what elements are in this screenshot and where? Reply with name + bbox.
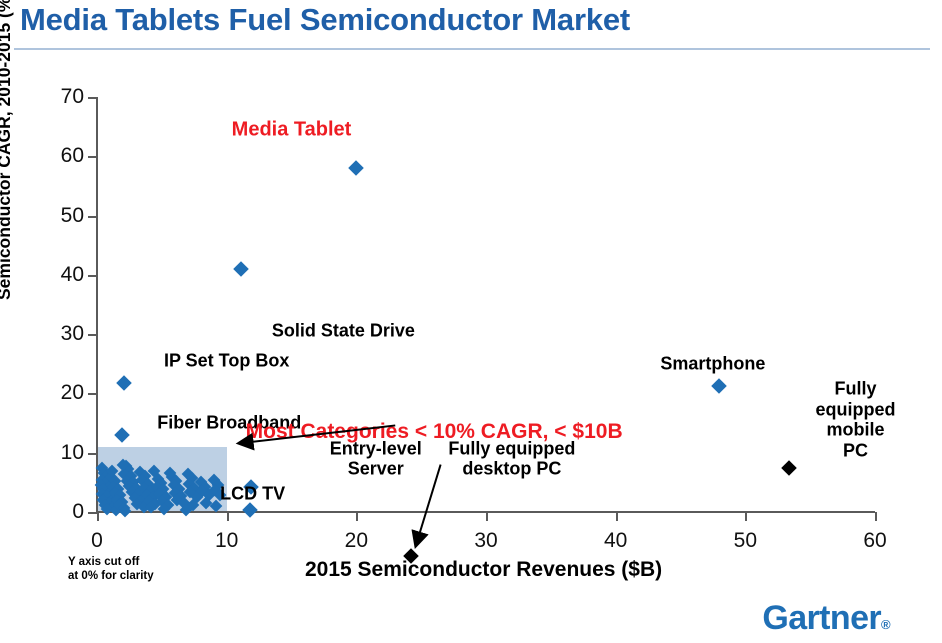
y-tick-label: 20 (61, 381, 84, 405)
gartner-logo: Gartner® (762, 599, 890, 638)
y-tick (88, 393, 97, 395)
y-tick (88, 275, 97, 277)
label-solid-state-drive: Solid State Drive (272, 321, 415, 342)
y-tick-label: 70 (61, 85, 84, 109)
y-axis-title: Semiconductor CAGR, 2010-2015 (%) (0, 0, 15, 300)
y-tick (88, 97, 97, 99)
data-point-solid-state-drive (233, 261, 249, 277)
y-tick (88, 453, 97, 455)
x-tick-label: 30 (474, 529, 497, 553)
x-tick (745, 512, 747, 521)
data-point-smartphone (712, 378, 728, 394)
x-axis-title: 2015 Semiconductor Revenues ($B) (305, 558, 662, 582)
x-tick (486, 512, 488, 521)
x-tick-label: 10 (215, 529, 238, 553)
x-tick-label: 0 (91, 529, 103, 553)
y-tick (88, 512, 97, 514)
x-tick-label: 60 (863, 529, 886, 553)
data-point-fully-equipped-mobile-pc (782, 460, 798, 476)
data-point-lcd-tv-lower (242, 502, 258, 518)
x-tick-label: 20 (345, 529, 368, 553)
scatter-plot: 010203040506070 0102030405060 Media Tabl… (97, 97, 875, 512)
label-ip-set-top-box: IP Set Top Box (164, 350, 289, 371)
label-entry-level-server: Entry-level Server (330, 438, 422, 479)
x-tick (97, 512, 99, 521)
logo-wordmark: Gartner (762, 599, 881, 637)
data-point-media-tablet (349, 160, 365, 176)
y-axis-line (96, 97, 98, 512)
x-tick (227, 512, 229, 521)
y-tick-label: 60 (61, 144, 84, 168)
x-tick (356, 512, 358, 521)
y-tick (88, 216, 97, 218)
y-tick-label: 40 (61, 263, 84, 287)
label-fully-equipped-mobile-pc: Fully equipped mobile PC (816, 379, 896, 462)
label-callout: Most Categories < 10% CAGR, < $10B (246, 420, 623, 444)
data-point-ip-set-top-box (116, 375, 132, 391)
label-lcd-tv: LCD TV (220, 484, 285, 505)
label-smartphone: Smartphone (660, 353, 765, 374)
y-tick-label: 30 (61, 322, 84, 346)
axis-cutoff-note: Y axis cut off at 0% for clarity (68, 555, 154, 583)
y-tick (88, 156, 97, 158)
x-tick-label: 40 (604, 529, 627, 553)
registered-mark: ® (881, 617, 890, 632)
y-tick-label: 0 (72, 500, 84, 524)
x-tick (875, 512, 877, 521)
y-tick-label: 10 (61, 441, 84, 465)
y-tick-label: 50 (61, 204, 84, 228)
x-tick-label: 50 (734, 529, 757, 553)
y-tick (88, 334, 97, 336)
title-divider (14, 48, 930, 50)
data-point-fiber-broadband (114, 427, 130, 443)
page-title: Media Tablets Fuel Semiconductor Market (20, 2, 920, 38)
x-tick (616, 512, 618, 521)
label-fully-equipped-desktop-pc: Fully equipped desktop PC (448, 438, 575, 479)
slide-canvas: Media Tablets Fuel Semiconductor Market … (0, 0, 942, 643)
label-media-tablet: Media Tablet (232, 118, 352, 141)
